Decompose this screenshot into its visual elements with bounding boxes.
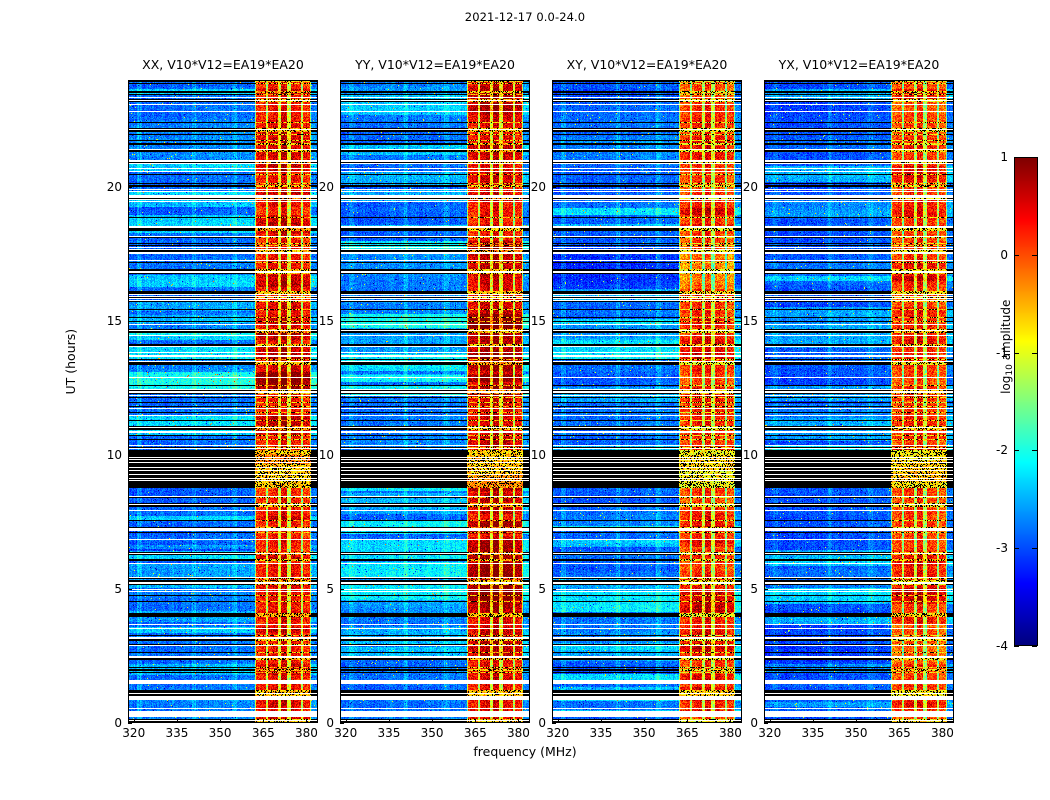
y-tick-mark [128,723,132,724]
x-tick-mark [730,719,731,723]
figure-suptitle: 2021-12-17 0.0-24.0 [0,10,1050,24]
x-tick-label: 365 [676,726,699,740]
x-tick-label: 380 [507,726,530,740]
colorbar-tick-mark [1014,450,1019,451]
x-tick-mark [220,719,221,723]
colorbar-tick-mark [1014,548,1019,549]
y-tick-label: 10 [319,448,334,462]
y-tick-label: 15 [319,314,334,328]
y-tick-mark [340,723,344,724]
y-tick-mark [764,455,768,456]
colorbar-tick-label: -4 [982,639,1008,653]
y-tick-mark [340,589,344,590]
x-tick-label: 365 [464,726,487,740]
y-tick-mark [128,455,132,456]
figure-root: 2021-12-17 0.0-24.0 XX, V10*V12=EA19*EA2… [0,0,1050,800]
y-tick-mark [764,187,768,188]
x-tick-mark [346,719,347,723]
colorbar-gradient [1015,158,1037,645]
y-tick-mark [764,321,768,322]
spectrogram-panel-xx: XX, V10*V12=EA19*EA20 [128,80,318,723]
x-tick-mark [475,719,476,723]
x-tick-mark [134,719,135,723]
colorbar-tick-label: -2 [982,443,1008,457]
x-tick-mark [389,719,390,723]
x-tick-label: 350 [633,726,656,740]
x-tick-mark [177,719,178,723]
x-tick-label: 350 [845,726,868,740]
spectrogram-image [128,80,318,723]
y-tick-mark [340,455,344,456]
y-tick-label: 20 [743,180,758,194]
x-tick-label: 335 [165,726,188,740]
x-axis-label: frequency (MHz) [0,744,1050,759]
y-tick-mark [552,723,556,724]
x-tick-label: 320 [122,726,145,740]
colorbar-label: log10 amplitude [999,299,1015,393]
x-tick-mark [644,719,645,723]
spectrogram-panel-xy: XY, V10*V12=EA19*EA20 [552,80,742,723]
x-tick-label: 320 [546,726,569,740]
y-tick-label: 5 [538,582,546,596]
y-tick-mark [340,321,344,322]
y-tick-label: 10 [107,448,122,462]
colorbar-tick-mark [1014,157,1019,158]
y-tick-label: 20 [319,180,334,194]
colorbar [1014,157,1038,646]
x-tick-label: 350 [421,726,444,740]
spectrogram-image [552,80,742,723]
y-tick-label: 0 [750,716,758,730]
y-tick-mark [128,187,132,188]
x-tick-label: 320 [758,726,781,740]
x-tick-label: 380 [295,726,318,740]
x-tick-mark [306,719,307,723]
y-tick-mark [764,589,768,590]
x-tick-label: 350 [209,726,232,740]
colorbar-tick-mark [1032,646,1037,647]
colorbar-tick-mark [1032,255,1037,256]
x-tick-label: 335 [801,726,824,740]
y-tick-mark [764,723,768,724]
colorbar-tick-mark [1032,450,1037,451]
spectrogram-image [340,80,530,723]
x-tick-label: 365 [888,726,911,740]
y-tick-label: 20 [107,180,122,194]
y-tick-label: 0 [538,716,546,730]
panel-title: XY, V10*V12=EA19*EA20 [567,57,728,72]
y-tick-mark [552,187,556,188]
colorbar-tick-label: 0 [982,248,1008,262]
y-tick-mark [340,187,344,188]
colorbar-tick-mark [1032,548,1037,549]
y-tick-mark [128,321,132,322]
x-tick-label: 335 [377,726,400,740]
y-tick-label: 5 [750,582,758,596]
y-tick-mark [128,589,132,590]
x-tick-mark [899,719,900,723]
x-tick-mark [263,719,264,723]
colorbar-label-sub: 10 [1005,364,1015,375]
colorbar-label-pre: log [999,375,1013,393]
y-tick-label: 0 [326,716,334,730]
y-tick-label: 5 [114,582,122,596]
y-tick-label: 15 [107,314,122,328]
x-tick-mark [942,719,943,723]
x-tick-label: 320 [334,726,357,740]
x-tick-label: 380 [931,726,954,740]
x-tick-mark [518,719,519,723]
colorbar-tick-mark [1032,157,1037,158]
panel-title: YY, V10*V12=EA19*EA20 [355,57,515,72]
x-tick-mark [558,719,559,723]
y-tick-label: 5 [326,582,334,596]
panel-title: XX, V10*V12=EA19*EA20 [142,57,304,72]
x-tick-label: 335 [589,726,612,740]
colorbar-tick-mark [1032,353,1037,354]
spectrogram-panel-yy: YY, V10*V12=EA19*EA20 [340,80,530,723]
colorbar-tick-mark [1014,646,1019,647]
spectrogram-image [764,80,954,723]
colorbar-tick-mark [1014,255,1019,256]
x-tick-mark [432,719,433,723]
x-tick-mark [770,719,771,723]
colorbar-label-post: amplitude [999,299,1013,363]
spectrogram-panel-yx: YX, V10*V12=EA19*EA20 [764,80,954,723]
y-tick-label: 20 [531,180,546,194]
x-tick-mark [601,719,602,723]
x-tick-mark [687,719,688,723]
y-tick-label: 15 [531,314,546,328]
y-tick-mark [552,455,556,456]
y-tick-label: 0 [114,716,122,730]
x-tick-label: 380 [719,726,742,740]
y-tick-mark [552,589,556,590]
colorbar-tick-label: 1 [982,150,1008,164]
colorbar-tick-label: -3 [982,541,1008,555]
x-tick-mark [856,719,857,723]
y-tick-label: 15 [743,314,758,328]
y-axis-label: UT (hours) [63,328,78,394]
y-tick-label: 10 [531,448,546,462]
x-tick-mark [813,719,814,723]
y-tick-mark [552,321,556,322]
x-tick-label: 365 [252,726,275,740]
panel-title: YX, V10*V12=EA19*EA20 [779,57,940,72]
y-tick-label: 10 [743,448,758,462]
